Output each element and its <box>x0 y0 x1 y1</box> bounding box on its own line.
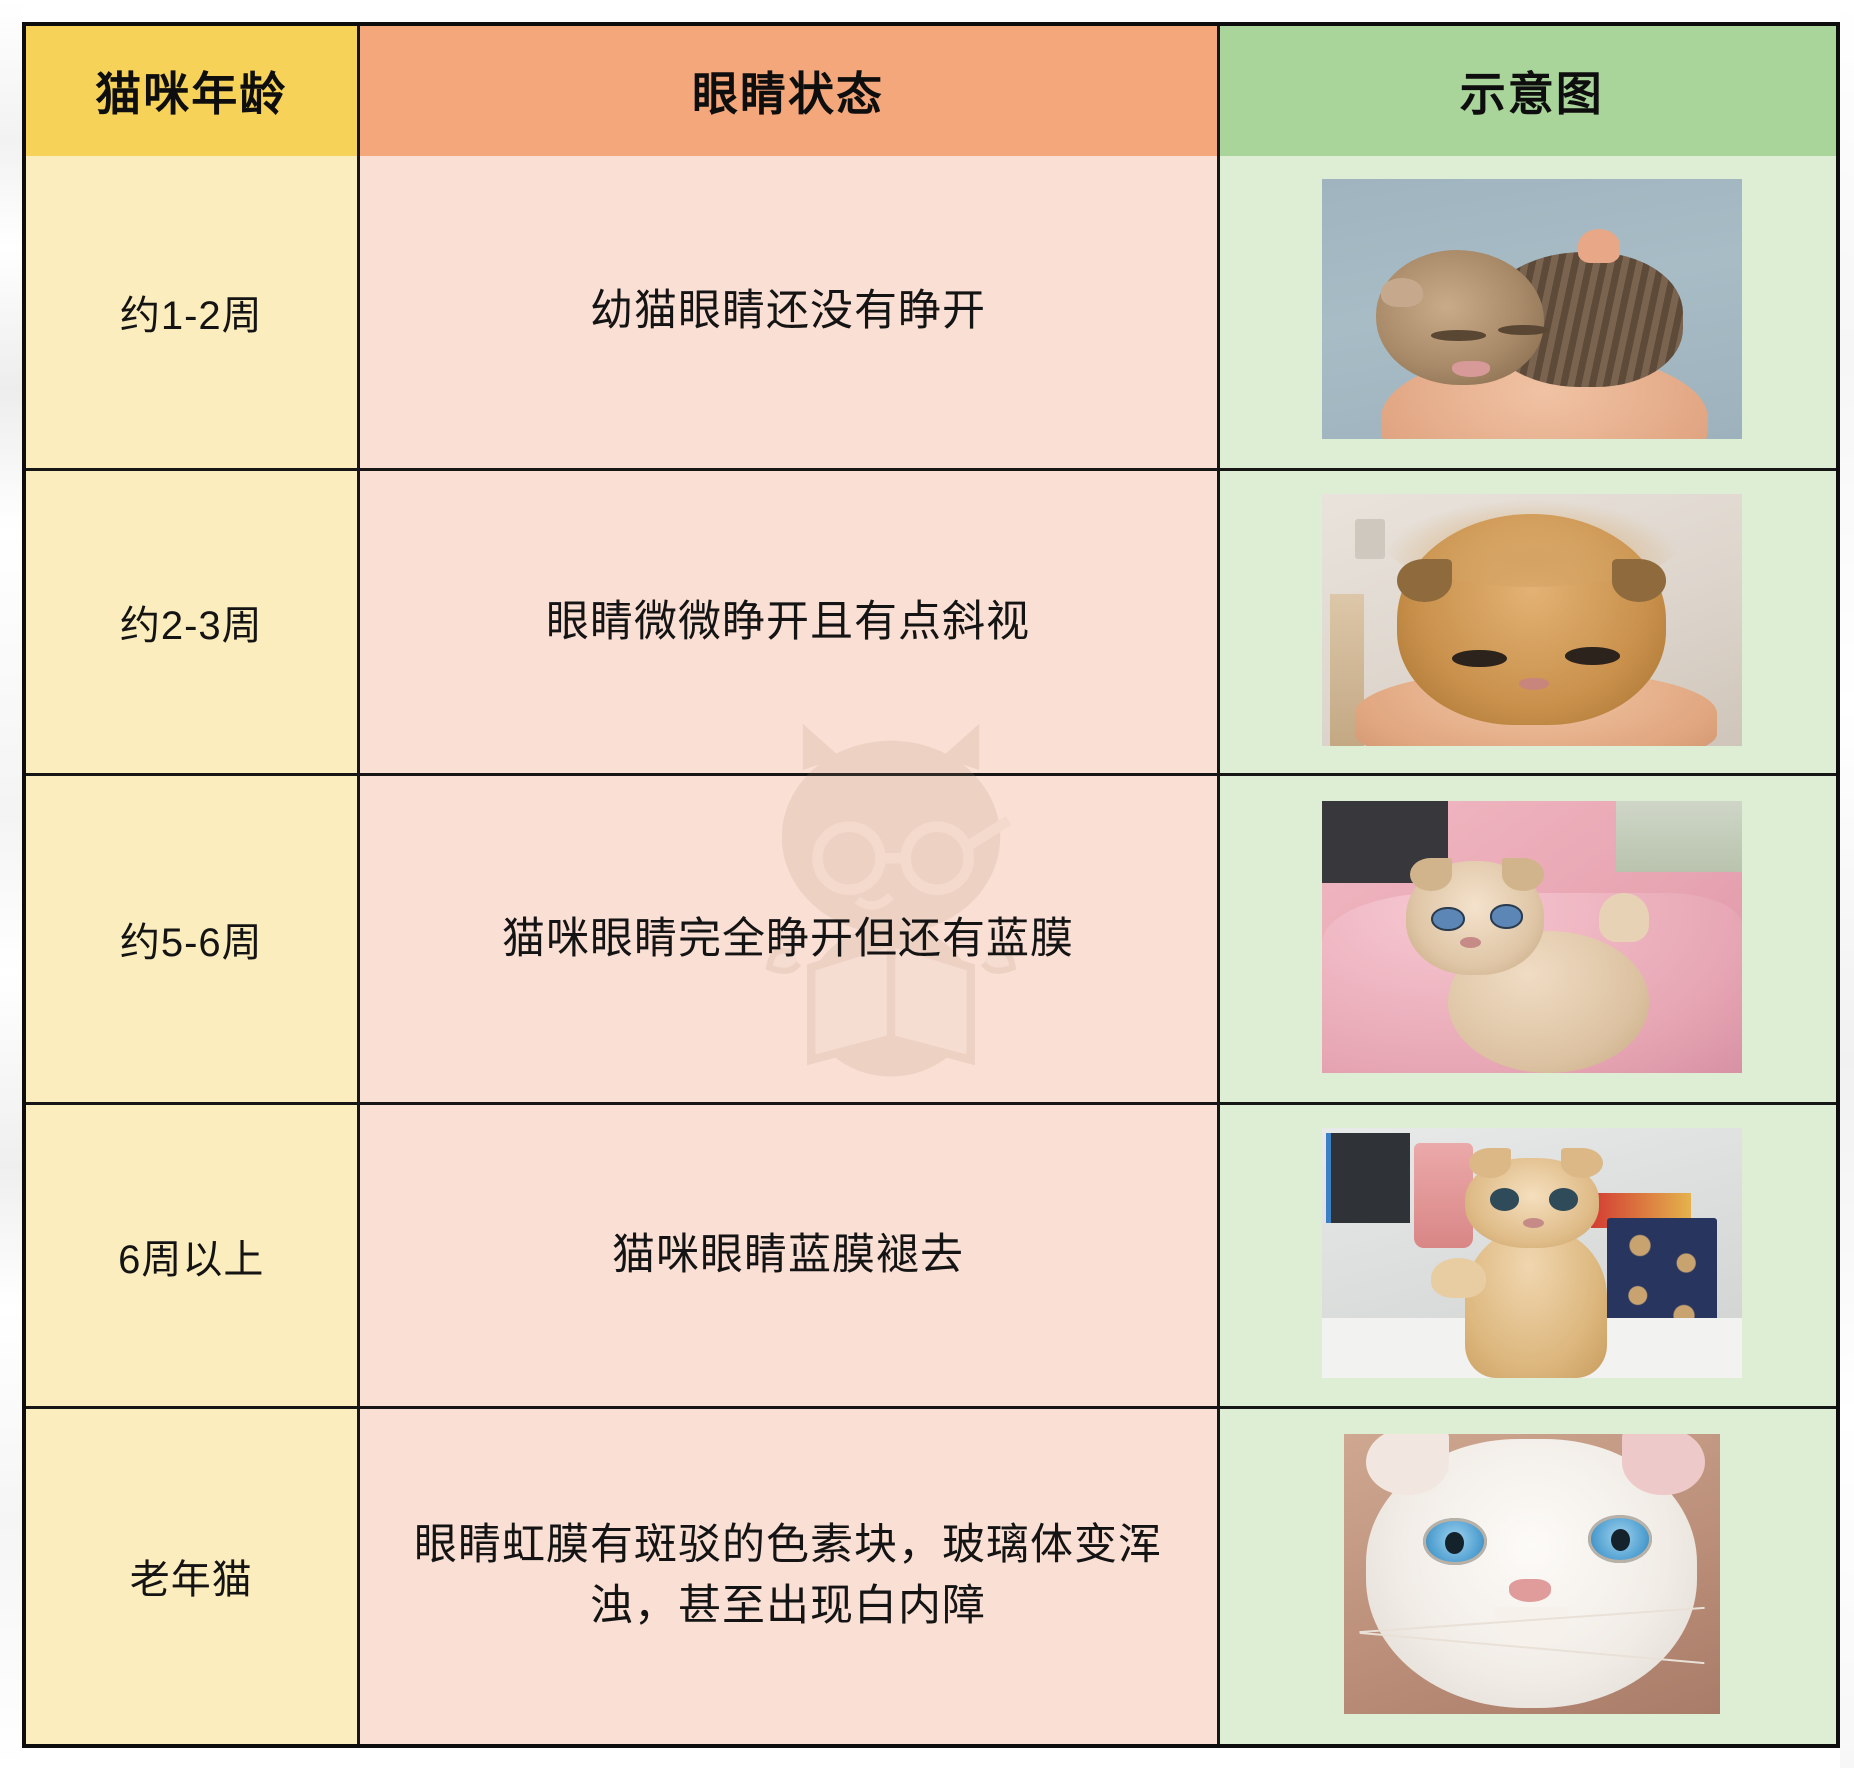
cell-eye-state: 猫咪眼睛蓝膜褪去 <box>358 1104 1218 1407</box>
eye-state-text: 猫咪眼睛完全睁开但还有蓝膜 <box>360 909 1217 970</box>
screenshot-page: 猫咪年龄 眼睛状态 示意图 约1-2周 幼猫眼睛还没有睁开 <box>0 0 1854 1768</box>
eye-state-text: 幼猫眼睛还没有睁开 <box>360 281 1217 342</box>
right-edge-artifact <box>1840 0 1854 1768</box>
cell-illustration <box>1218 156 1840 469</box>
cell-illustration <box>1218 775 1840 1104</box>
eye-state-text: 眼睛微微睁开且有点斜视 <box>360 592 1217 653</box>
cell-age: 6周以上 <box>26 1104 358 1407</box>
table-row: 老年猫 眼睛虹膜有斑驳的色素块，玻璃体变浑浊，甚至出现白内障 <box>26 1407 1840 1744</box>
white-senior-cat-blue-eyes-closeup-photo <box>1344 1434 1720 1714</box>
table-grid: 猫咪年龄 眼睛状态 示意图 约1-2周 幼猫眼睛还没有睁开 <box>26 26 1840 1744</box>
cell-illustration <box>1218 1407 1840 1744</box>
cell-illustration <box>1218 469 1840 775</box>
cell-eye-state: 幼猫眼睛还没有睁开 <box>358 156 1218 469</box>
table-row: 约1-2周 幼猫眼睛还没有睁开 <box>26 156 1840 469</box>
cell-age: 约5-6周 <box>26 775 358 1104</box>
table-row: 6周以上 猫咪眼睛蓝膜褪去 <box>26 1104 1840 1407</box>
cell-illustration <box>1218 1104 1840 1407</box>
cat-eye-age-table: 猫咪年龄 眼睛状态 示意图 约1-2周 幼猫眼睛还没有睁开 <box>22 22 1840 1748</box>
column-header-illustration: 示意图 <box>1218 26 1840 156</box>
ginger-kitten-raising-paw-on-desk-photo <box>1322 1128 1742 1378</box>
cell-age: 老年猫 <box>26 1407 358 1744</box>
newborn-tabby-kitten-eyes-closed-in-hand-photo <box>1322 179 1742 439</box>
eye-state-text: 猫咪眼睛蓝膜褪去 <box>360 1225 1217 1286</box>
cell-eye-state: 眼睛微微睁开且有点斜视 <box>358 469 1218 775</box>
cream-kitten-on-pink-blanket-blue-eyes-photo <box>1322 801 1742 1073</box>
table-row: 约5-6周 猫咪眼睛完全睁开但还有蓝膜 <box>26 775 1840 1104</box>
left-edge-artifact <box>0 0 22 1768</box>
cell-age: 约1-2周 <box>26 156 358 469</box>
cell-age: 约2-3周 <box>26 469 358 775</box>
table-header-row: 猫咪年龄 眼睛状态 示意图 <box>26 26 1840 156</box>
fluffy-golden-kitten-eyes-slightly-open-photo <box>1322 494 1742 746</box>
column-header-eye-state: 眼睛状态 <box>358 26 1218 156</box>
table-row: 约2-3周 眼睛微微睁开且有点斜视 <box>26 469 1840 775</box>
eye-state-text: 眼睛虹膜有斑驳的色素块，玻璃体变浑浊，甚至出现白内障 <box>360 1515 1217 1637</box>
cell-eye-state: 眼睛虹膜有斑驳的色素块，玻璃体变浑浊，甚至出现白内障 <box>358 1407 1218 1744</box>
column-header-age: 猫咪年龄 <box>26 26 358 156</box>
cell-eye-state: 猫咪眼睛完全睁开但还有蓝膜 <box>358 775 1218 1104</box>
